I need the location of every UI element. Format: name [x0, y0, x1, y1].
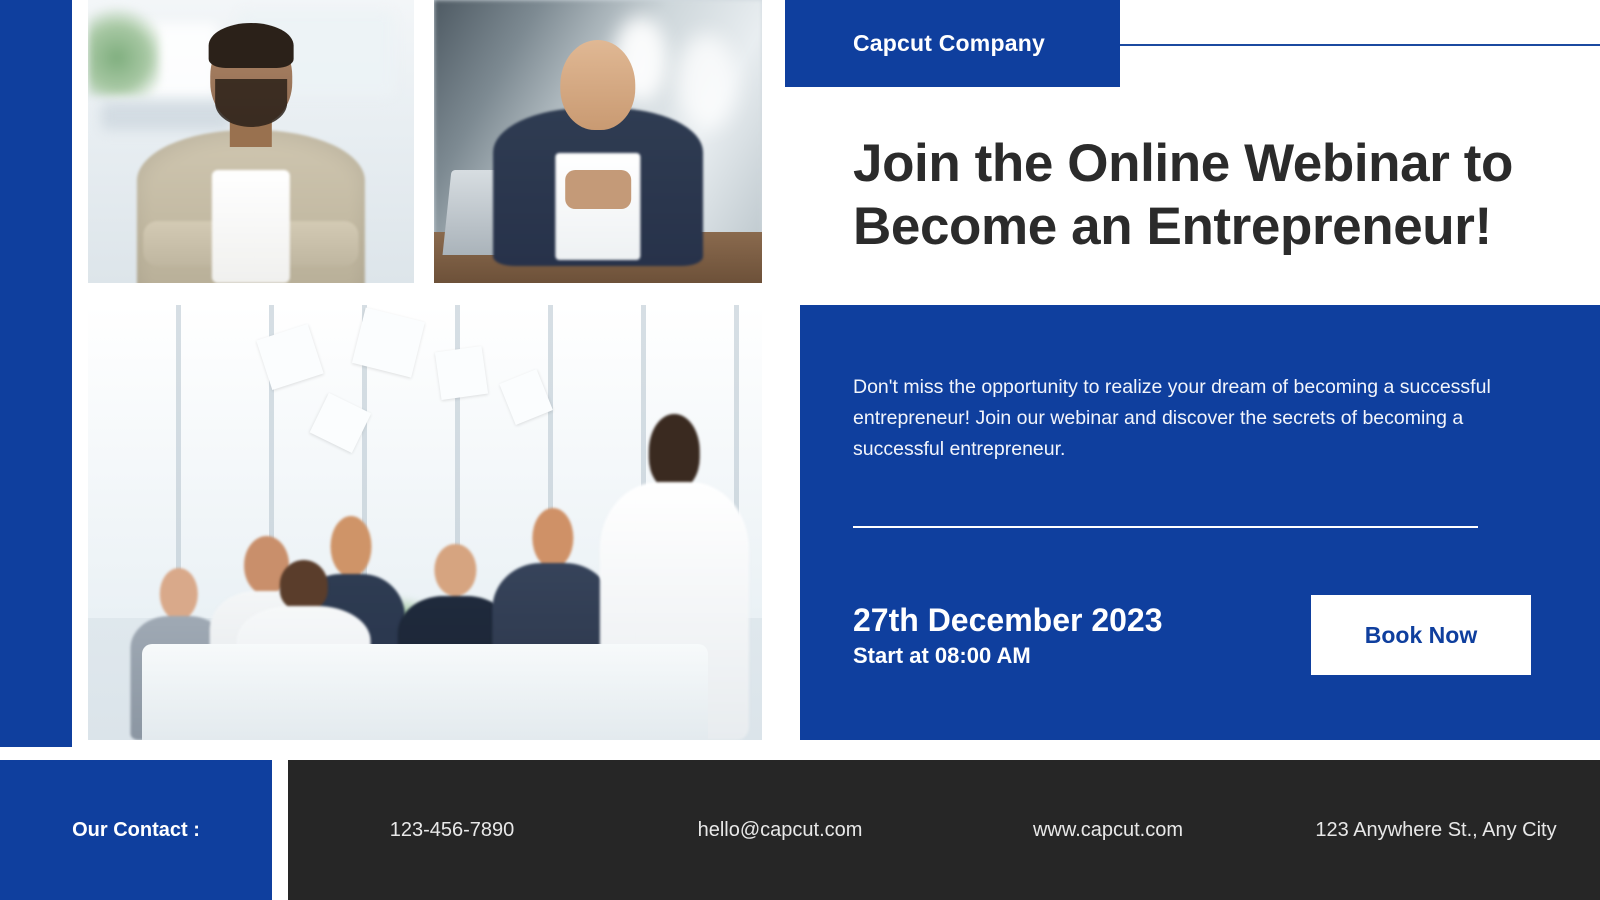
brand-block: Capcut Company [785, 0, 1120, 87]
left-accent-bar [0, 0, 72, 747]
book-now-button[interactable]: Book Now [1311, 595, 1531, 675]
title-panel: Join the Online Webinar to Become an Ent… [785, 87, 1600, 305]
info-panel: Don't miss the opportunity to realize yo… [800, 305, 1600, 740]
photo-team-celebration [88, 305, 762, 740]
info-divider-line [853, 526, 1478, 528]
brand-name: Capcut Company [853, 30, 1045, 57]
description-text: Don't miss the opportunity to realize yo… [853, 372, 1498, 466]
flyer-canvas: Capcut Company Join the Online Webinar t… [0, 0, 1600, 900]
event-row: 27th December 2023 Start at 08:00 AM Boo… [853, 590, 1531, 680]
event-time: Start at 08:00 AM [853, 643, 1163, 669]
footer-website[interactable]: www.capcut.com [944, 819, 1272, 842]
footer-address: 123 Anywhere St., Any City [1272, 819, 1600, 842]
contact-label: Our Contact : [72, 819, 200, 842]
header-divider-line [1120, 44, 1600, 46]
footer-email[interactable]: hello@capcut.com [616, 819, 944, 842]
photo-businesswoman [434, 0, 762, 283]
footer-bar: 123-456-7890 hello@capcut.com www.capcut… [288, 760, 1600, 900]
photo-businessman [88, 0, 414, 283]
page-title: Join the Online Webinar to Become an Ent… [853, 133, 1513, 258]
event-date: 27th December 2023 [853, 601, 1163, 639]
event-datetime: 27th December 2023 Start at 08:00 AM [853, 601, 1163, 668]
contact-label-block: Our Contact : [0, 760, 272, 900]
footer-phone[interactable]: 123-456-7890 [288, 819, 616, 842]
